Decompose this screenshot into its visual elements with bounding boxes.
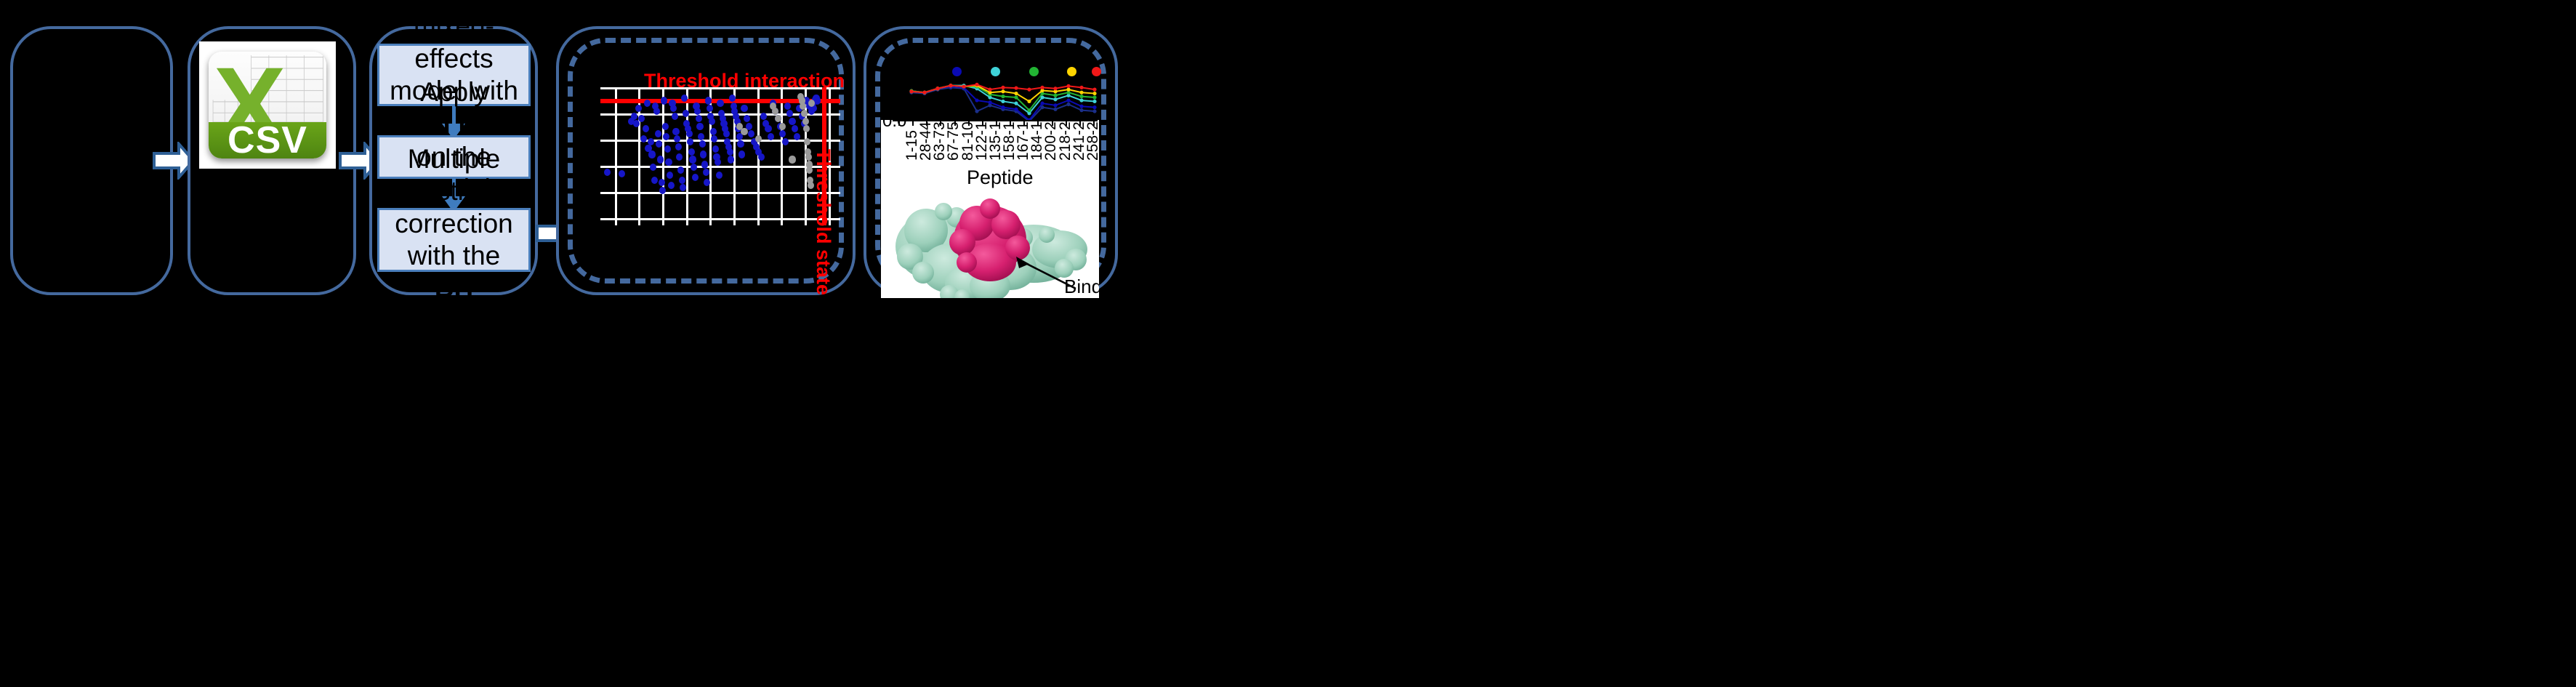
line-marker: [1001, 105, 1005, 109]
scatter-point: [676, 153, 683, 161]
scatter-point: [679, 177, 685, 184]
step-multiple-testing-text: Multiple testing correctionwith the BH p…: [387, 143, 521, 337]
scatter-point: [707, 105, 713, 112]
scatter-point: [687, 138, 693, 145]
legend-dot: [991, 67, 1000, 76]
scatter-point: [715, 158, 721, 166]
scatter-point: [758, 153, 765, 161]
line-marker: [1079, 95, 1083, 98]
legend-dot: [1029, 67, 1039, 76]
line-marker: [909, 89, 913, 93]
scatter-point: [723, 130, 730, 137]
line-marker: [1092, 88, 1096, 92]
line-marker: [1001, 86, 1005, 89]
scatter-point: [604, 169, 611, 176]
csv-icon-x-letter: X: [214, 54, 256, 120]
scatter-point: [786, 110, 793, 117]
legend-dot: [1067, 67, 1076, 76]
line-marker: [1053, 97, 1057, 101]
scatter-point: [772, 108, 778, 115]
binding-interface-annotation: Binding interface: [1064, 276, 1099, 298]
scatter-point: [664, 145, 671, 153]
scatter-point: [650, 164, 656, 171]
scatter-point: [688, 148, 695, 156]
scatter-point: [768, 133, 774, 140]
scatter-point: [700, 150, 707, 158]
scatter-point: [738, 150, 745, 158]
line-marker: [1066, 103, 1070, 106]
line-marker: [988, 88, 991, 92]
scatter-point: [663, 133, 669, 140]
line-marker: [1001, 89, 1005, 93]
x-axis-title: Peptide: [967, 166, 1034, 189]
scatter-point: [792, 125, 798, 132]
csv-icon-tile: X CSV: [209, 52, 326, 158]
scatter-point: [672, 128, 679, 135]
scatter-point: [711, 135, 717, 142]
scatter-plot: [600, 87, 840, 225]
line-marker: [1027, 108, 1031, 112]
scatter-points-layer: [600, 87, 840, 225]
scatter-point: [705, 97, 712, 104]
scatter-point: [727, 148, 733, 156]
scatter-point: [765, 125, 771, 132]
scatter-point: [648, 150, 655, 158]
scatter-point: [701, 161, 708, 168]
scatter-point: [803, 125, 810, 132]
scatter-point: [661, 97, 667, 104]
scatter-point: [689, 156, 696, 163]
binding-interface-line2: interface: [1064, 297, 1099, 298]
scatter-point: [800, 103, 806, 110]
line-marker: [1053, 94, 1057, 97]
line-marker: [962, 84, 965, 88]
scatter-point: [728, 156, 734, 163]
line-marker: [1053, 108, 1057, 111]
scatter-point: [703, 169, 709, 176]
csv-icon-band-label: CSV: [228, 118, 307, 158]
step-multiple-testing: Multiple testing correctionwith the BH p…: [377, 208, 531, 272]
scatter-point: [755, 135, 762, 142]
line-marker: [1014, 102, 1018, 105]
scatter-point: [698, 133, 704, 140]
csv-file-icon: X CSV: [199, 41, 336, 169]
scatter-point: [638, 115, 645, 122]
flowchart-figure: X CSV Fit a linear mixed-effects model w…: [0, 0, 2576, 687]
scatter-point: [710, 128, 717, 135]
structure-figure-card: 0.0 1-1528-4463-7367-7581-101122-129135-…: [881, 120, 1099, 298]
threshold-state-label: Threshold state: [812, 149, 834, 295]
line-marker: [1079, 91, 1083, 95]
scatter-point: [699, 140, 706, 148]
scatter-point: [709, 118, 715, 125]
scatter-point: [640, 135, 647, 142]
scatter-point: [779, 123, 786, 130]
scatter-point: [802, 118, 809, 125]
scatter-point: [655, 130, 661, 137]
scatter-point: [744, 115, 750, 122]
line-marker: [1001, 100, 1005, 103]
line-marker: [1014, 108, 1018, 111]
line-marker: [1014, 95, 1018, 99]
scatter-point: [635, 105, 642, 112]
line-marker: [1079, 105, 1083, 108]
line-marker: [1092, 105, 1096, 109]
line-marker: [1053, 87, 1057, 90]
binding-interface-line1: Binding: [1064, 276, 1099, 297]
line-marker: [935, 87, 939, 90]
line-marker: [975, 98, 978, 102]
scatter-point: [717, 100, 723, 107]
line-marker: [949, 84, 952, 87]
line-marker: [1079, 98, 1083, 102]
scatter-point: [775, 115, 781, 122]
scatter-point: [729, 95, 736, 102]
scatter-point: [704, 179, 710, 186]
scatter-point: [737, 140, 744, 148]
line-marker: [1014, 92, 1018, 95]
line-marker: [988, 100, 991, 104]
scatter-point: [665, 158, 672, 166]
scatter-point: [681, 95, 688, 102]
line-chart-legend: [898, 67, 1099, 81]
scatter-point: [672, 113, 678, 120]
scatter-point: [805, 153, 812, 161]
scatter-point: [653, 108, 660, 115]
line-marker: [1066, 84, 1070, 88]
x-axis-tick-label: 258-266: [1084, 120, 1099, 161]
line-marker: [1092, 109, 1096, 113]
legend-dot: [952, 67, 962, 76]
scatter-point: [789, 156, 795, 163]
line-marker: [1079, 86, 1083, 89]
scatter-point: [677, 166, 684, 174]
line-marker: [1027, 100, 1031, 103]
scatter-point: [643, 125, 649, 132]
line-marker: [975, 109, 978, 113]
scatter-point: [680, 184, 686, 191]
scatter-point: [716, 172, 723, 179]
scatter-point: [801, 110, 808, 117]
scatter-point: [648, 138, 654, 145]
scatter-point: [808, 100, 815, 107]
line-marker: [1092, 100, 1096, 103]
scatter-point: [760, 113, 767, 120]
scatter-point: [619, 170, 625, 177]
scatter-point: [644, 100, 651, 107]
line-marker: [1066, 88, 1070, 92]
scatter-point: [691, 164, 697, 171]
scatter-point: [670, 105, 677, 112]
scatter-point: [659, 187, 666, 194]
line-marker: [1027, 88, 1031, 92]
line-marker: [1001, 95, 1005, 98]
line-marker: [1040, 102, 1044, 105]
scatter-point: [662, 123, 669, 130]
scatter-point: [779, 130, 786, 137]
input-data-panel: [10, 26, 173, 295]
scatter-point: [804, 138, 810, 145]
x-axis-tick-labels: 1-1528-4463-7367-7581-101122-129135-1441…: [881, 120, 1099, 171]
legend-dot: [1092, 67, 1101, 76]
line-marker: [1092, 92, 1096, 95]
scatter-point: [651, 177, 658, 184]
line-marker: [1040, 86, 1044, 89]
scatter-point: [675, 143, 682, 150]
scatter-point: [659, 179, 665, 186]
scatter-point: [741, 105, 747, 112]
scatter-point: [814, 97, 821, 104]
scatter-point: [784, 103, 791, 110]
scatter-point: [696, 123, 703, 130]
scatter-point: [668, 182, 675, 189]
scatter-point: [631, 113, 637, 120]
scatter-point: [789, 118, 795, 125]
line-marker: [975, 83, 978, 87]
scatter-point: [667, 172, 673, 179]
scatter-point: [686, 130, 693, 137]
line-marker: [1053, 103, 1057, 107]
scatter-point: [692, 174, 699, 181]
scatter-point: [656, 140, 662, 148]
line-marker: [1079, 108, 1083, 112]
csv-icon-band: CSV: [209, 122, 326, 158]
line-marker: [1066, 98, 1070, 102]
scatter-point: [741, 128, 747, 135]
scatter-point: [794, 133, 800, 140]
line-marker: [1014, 86, 1018, 89]
line-marker: [922, 91, 926, 95]
scatter-point: [712, 145, 719, 153]
scatter-point: [674, 135, 680, 142]
scatter-point: [782, 138, 789, 145]
scatter-point: [657, 156, 664, 163]
scatter-point: [696, 115, 702, 122]
scatter-point: [683, 110, 689, 117]
scatter-point: [694, 108, 701, 115]
scatter-point: [748, 130, 754, 137]
line-marker: [1092, 95, 1096, 99]
x-axis-tick-label: 277-284: [1098, 120, 1099, 161]
